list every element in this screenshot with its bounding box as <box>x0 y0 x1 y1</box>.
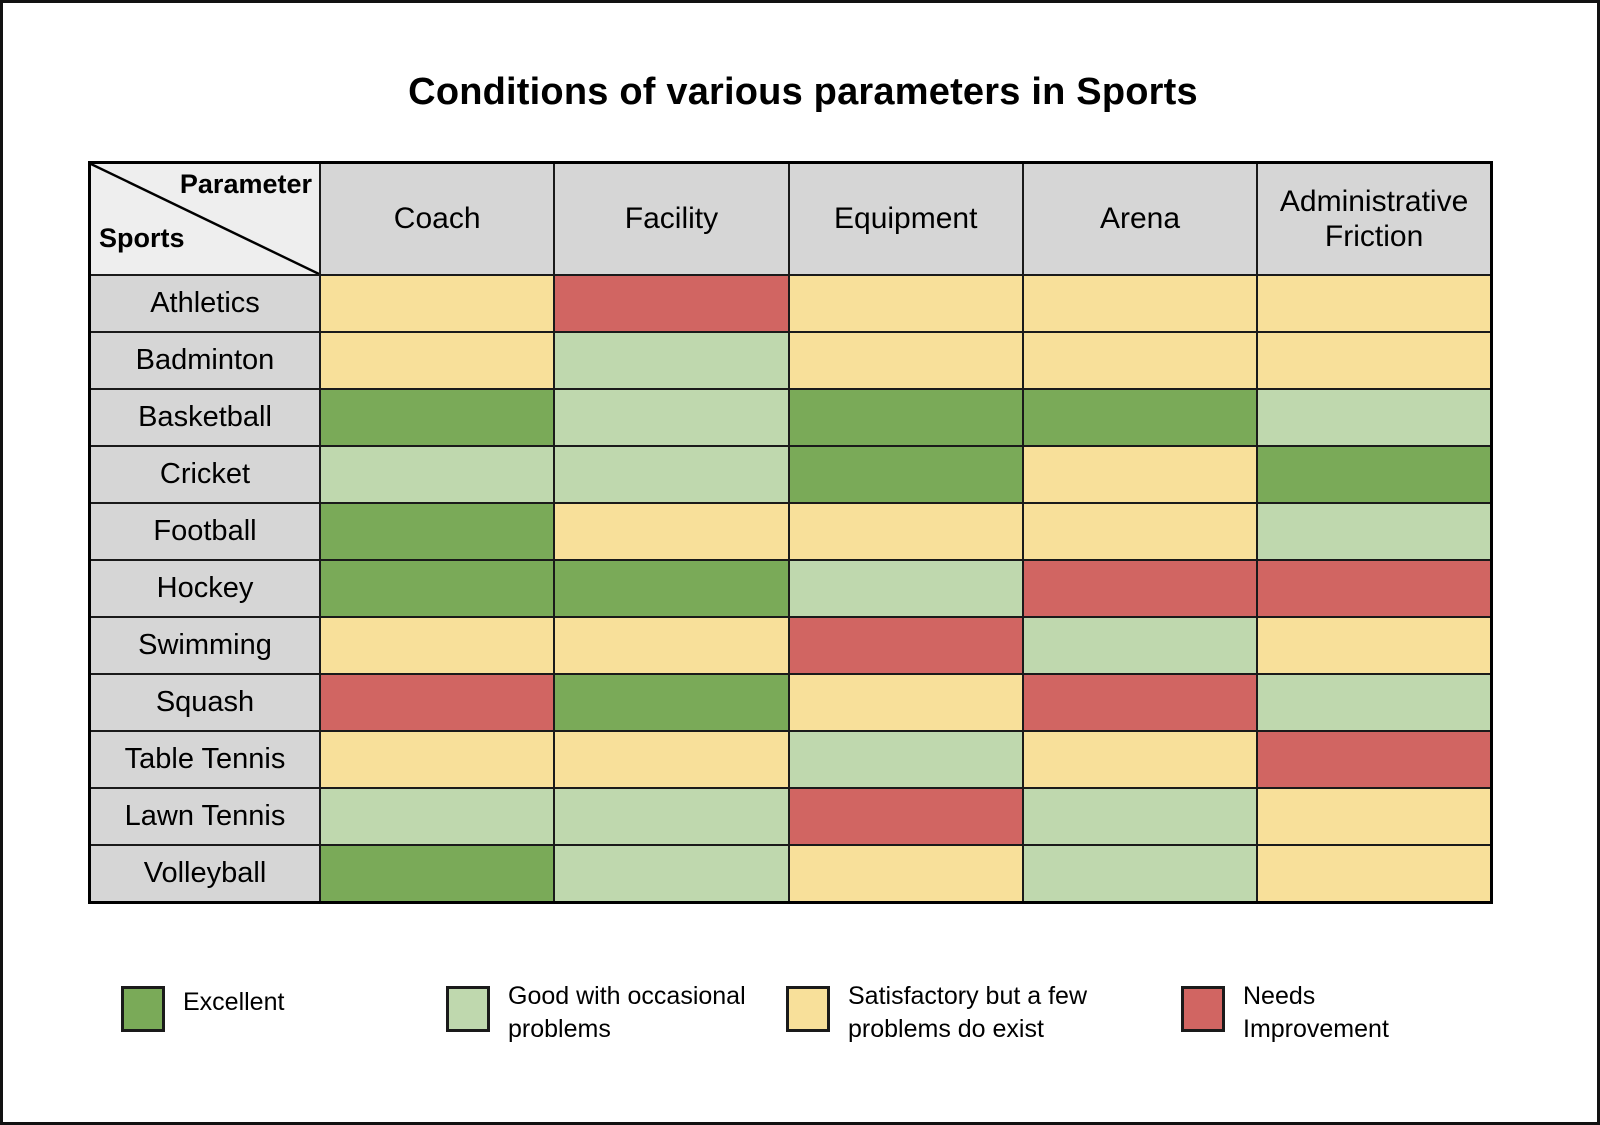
row-label-basketball: Basketball <box>90 389 321 446</box>
cell-basketball-administrative-friction <box>1257 389 1491 446</box>
cell-squash-coach <box>320 674 554 731</box>
row-label-cricket: Cricket <box>90 446 321 503</box>
cell-cricket-equipment <box>789 446 1023 503</box>
legend-swatch-satisfactory <box>786 986 830 1032</box>
row-axis-label: Sports <box>99 224 185 252</box>
cell-cricket-coach <box>320 446 554 503</box>
cell-athletics-equipment <box>789 275 1023 332</box>
cell-hockey-administrative-friction <box>1257 560 1491 617</box>
cell-athletics-arena <box>1023 275 1257 332</box>
cell-hockey-facility <box>554 560 788 617</box>
cell-hockey-coach <box>320 560 554 617</box>
cell-volleyball-facility <box>554 845 788 903</box>
cell-volleyball-administrative-friction <box>1257 845 1491 903</box>
conditions-matrix-table: Parameter Sports Coach Facility Equipmen… <box>88 161 1493 904</box>
cell-football-facility <box>554 503 788 560</box>
cell-basketball-coach <box>320 389 554 446</box>
cell-cricket-administrative-friction <box>1257 446 1491 503</box>
page-root: Conditions of various parameters in Spor… <box>0 0 1600 1125</box>
table-row: Athletics <box>90 275 1492 332</box>
cell-athletics-facility <box>554 275 788 332</box>
row-label-swimming: Swimming <box>90 617 321 674</box>
row-label-football: Football <box>90 503 321 560</box>
row-label-lawn-tennis: Lawn Tennis <box>90 788 321 845</box>
cell-squash-equipment <box>789 674 1023 731</box>
cell-swimming-coach <box>320 617 554 674</box>
row-label-hockey: Hockey <box>90 560 321 617</box>
cell-hockey-equipment <box>789 560 1023 617</box>
cell-badminton-equipment <box>789 332 1023 389</box>
cell-cricket-arena <box>1023 446 1257 503</box>
cell-basketball-arena <box>1023 389 1257 446</box>
cell-badminton-coach <box>320 332 554 389</box>
legend-item-satisfactory: Satisfactory but a few problems do exist <box>786 958 1181 1046</box>
cell-athletics-coach <box>320 275 554 332</box>
table-body: AthleticsBadmintonBasketballCricketFootb… <box>90 275 1492 903</box>
cell-lawn-tennis-administrative-friction <box>1257 788 1491 845</box>
table-row: Volleyball <box>90 845 1492 903</box>
table-row: Cricket <box>90 446 1492 503</box>
cell-athletics-administrative-friction <box>1257 275 1491 332</box>
cell-football-administrative-friction <box>1257 503 1491 560</box>
legend-label-good: Good with occasional problems <box>508 958 778 1046</box>
table-row: Badminton <box>90 332 1492 389</box>
column-header-coach: Coach <box>320 163 554 276</box>
table-row: Basketball <box>90 389 1492 446</box>
table-row: Football <box>90 503 1492 560</box>
column-header-administrative-friction: Administrative Friction <box>1257 163 1491 276</box>
table-row: Swimming <box>90 617 1492 674</box>
legend-item-needs-improvement: Needs Improvement <box>1181 958 1481 1046</box>
cell-badminton-administrative-friction <box>1257 332 1491 389</box>
cell-swimming-administrative-friction <box>1257 617 1491 674</box>
cell-badminton-arena <box>1023 332 1257 389</box>
cell-lawn-tennis-facility <box>554 788 788 845</box>
column-header-equipment: Equipment <box>789 163 1023 276</box>
row-label-badminton: Badminton <box>90 332 321 389</box>
column-axis-label: Parameter <box>180 170 312 198</box>
corner-axis-cell: Parameter Sports <box>90 163 321 276</box>
row-label-volleyball: Volleyball <box>90 845 321 903</box>
cell-cricket-facility <box>554 446 788 503</box>
legend-item-good: Good with occasional problems <box>446 958 786 1046</box>
cell-lawn-tennis-arena <box>1023 788 1257 845</box>
cell-squash-arena <box>1023 674 1257 731</box>
cell-hockey-arena <box>1023 560 1257 617</box>
legend-label-needs-improvement: Needs Improvement <box>1243 958 1443 1046</box>
legend: Excellent Good with occasional problems … <box>121 958 1521 1046</box>
cell-volleyball-arena <box>1023 845 1257 903</box>
cell-squash-administrative-friction <box>1257 674 1491 731</box>
cell-lawn-tennis-equipment <box>789 788 1023 845</box>
cell-football-arena <box>1023 503 1257 560</box>
cell-table-tennis-equipment <box>789 731 1023 788</box>
cell-volleyball-coach <box>320 845 554 903</box>
header-row: Parameter Sports Coach Facility Equipmen… <box>90 163 1492 276</box>
row-label-table-tennis: Table Tennis <box>90 731 321 788</box>
cell-table-tennis-facility <box>554 731 788 788</box>
cell-football-equipment <box>789 503 1023 560</box>
cell-swimming-arena <box>1023 617 1257 674</box>
cell-basketball-facility <box>554 389 788 446</box>
cell-squash-facility <box>554 674 788 731</box>
cell-basketball-equipment <box>789 389 1023 446</box>
column-header-facility: Facility <box>554 163 788 276</box>
cell-swimming-equipment <box>789 617 1023 674</box>
column-header-arena: Arena <box>1023 163 1257 276</box>
legend-item-excellent: Excellent <box>121 958 446 1032</box>
cell-table-tennis-arena <box>1023 731 1257 788</box>
cell-table-tennis-coach <box>320 731 554 788</box>
cell-badminton-facility <box>554 332 788 389</box>
page-title: Conditions of various parameters in Spor… <box>3 71 1600 114</box>
cell-lawn-tennis-coach <box>320 788 554 845</box>
table-row: Hockey <box>90 560 1492 617</box>
cell-swimming-facility <box>554 617 788 674</box>
legend-label-excellent: Excellent <box>183 958 284 1019</box>
legend-swatch-needs-improvement <box>1181 986 1225 1032</box>
table-row: Lawn Tennis <box>90 788 1492 845</box>
row-label-squash: Squash <box>90 674 321 731</box>
table-row: Squash <box>90 674 1492 731</box>
table-row: Table Tennis <box>90 731 1492 788</box>
row-label-athletics: Athletics <box>90 275 321 332</box>
cell-volleyball-equipment <box>789 845 1023 903</box>
legend-swatch-excellent <box>121 986 165 1032</box>
legend-label-satisfactory: Satisfactory but a few problems do exist <box>848 958 1118 1046</box>
cell-table-tennis-administrative-friction <box>1257 731 1491 788</box>
legend-swatch-good <box>446 986 490 1032</box>
table-header: Parameter Sports Coach Facility Equipmen… <box>90 163 1492 276</box>
cell-football-coach <box>320 503 554 560</box>
